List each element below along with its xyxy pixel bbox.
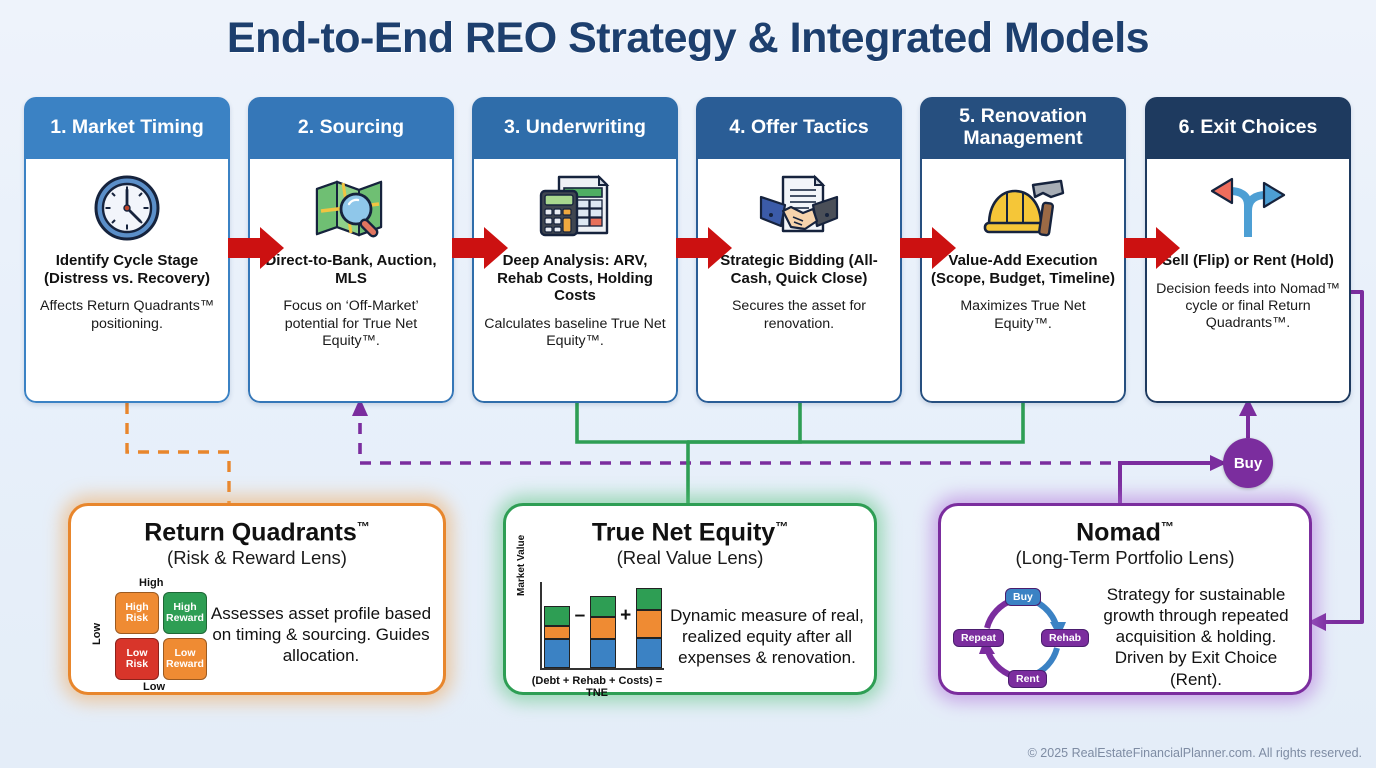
chart-operator-plus: + xyxy=(620,605,631,645)
stage-description-1: Affects Return Quadrants™ positioning. xyxy=(35,298,219,333)
model-panel-return-quadrants[interactable]: Return Quadrants™ (Risk & Reward Lens) H… xyxy=(68,503,446,695)
flow-arrow-1 xyxy=(228,225,284,271)
quadrant-cell-high-reward: High Reward xyxy=(163,592,207,634)
chart-bar-3 xyxy=(636,588,662,668)
nomad-step-repeat: Repeat xyxy=(953,629,1004,648)
model-panel-true-net-equity[interactable]: True Net Equity™ (Real Value Lens) Marke… xyxy=(503,503,877,695)
quadrant-axis-left: Low xyxy=(91,623,103,645)
stage-description-5: Maximizes True Net Equity™. xyxy=(931,298,1115,333)
true-net-equity-title: True Net Equity™ xyxy=(506,520,874,545)
stage-headline-2: Direct-to-Bank, Auction, MLS xyxy=(259,252,443,287)
hardhat-hammer-icon xyxy=(981,167,1065,249)
stage-header-6: 6. Exit Choices xyxy=(1145,97,1351,159)
stage-description-3: Calculates baseline True Net Equity™. xyxy=(483,316,667,351)
stage-description-2: Focus on ‘Off-Market’ potential for True… xyxy=(259,298,443,350)
stage-headline-3: Deep Analysis: ARV, Rehab Costs, Holding… xyxy=(483,252,667,305)
true-net-equity-subtitle: (Real Value Lens) xyxy=(506,549,874,568)
flow-arrow-2 xyxy=(452,225,508,271)
chart-x-axis-label: (Debt + Rehab + Costs) = TNE xyxy=(524,675,670,700)
flow-arrow-4 xyxy=(900,225,956,271)
stage-headline-6: Sell (Flip) or Rent (Hold) xyxy=(1162,252,1334,270)
chart-operator-minus: – xyxy=(575,605,586,645)
stage-headline-5: Value-Add Execution (Scope, Budget, Time… xyxy=(931,252,1115,287)
nomad-step-buy: Buy xyxy=(1005,588,1041,607)
return-quadrants-description: Assesses asset profile based on timing &… xyxy=(209,603,433,667)
chart-bar-2 xyxy=(590,596,616,668)
handshake-contract-icon xyxy=(757,167,841,249)
fork-arrows-icon xyxy=(1206,167,1290,249)
quadrant-cell-high-risk: High Risk xyxy=(115,592,159,634)
stage-header-4: 4. Offer Tactics xyxy=(696,97,902,159)
chart-plot-area: – + xyxy=(540,582,664,670)
nomad-step-rent: Rent xyxy=(1008,670,1047,689)
flow-arrow-5 xyxy=(1124,225,1180,271)
map-magnifier-icon xyxy=(311,167,391,249)
model-panel-nomad[interactable]: Nomad™ (Long-Term Portfolio Lens) Buy Re… xyxy=(938,503,1312,695)
stage-header-2: 2. Sourcing xyxy=(248,97,454,159)
buy-node[interactable]: Buy xyxy=(1223,438,1273,488)
return-quadrants-title: Return Quadrants™ xyxy=(71,520,443,545)
quadrant-axis-top: High xyxy=(139,577,163,589)
stage-description-4: Secures the asset for renovation. xyxy=(707,298,891,333)
stage-header-1: 1. Market Timing xyxy=(24,97,230,159)
stage-description-6: Decision feeds into Nomad™ cycle or fina… xyxy=(1156,281,1340,333)
clock-icon xyxy=(90,167,164,249)
flow-arrow-3 xyxy=(676,225,732,271)
nomad-step-rehab: Rehab xyxy=(1041,629,1089,648)
chart-y-axis-label: Market Value xyxy=(516,535,527,596)
stage-headline-1: Identify Cycle Stage (Distress vs. Recov… xyxy=(35,252,219,287)
nomad-description: Strategy for sustainable growth through … xyxy=(1093,584,1299,690)
nomad-title: Nomad™ xyxy=(941,520,1309,545)
chart-bar-1 xyxy=(544,606,570,668)
stage-headline-4: Strategic Bidding (All-Cash, Quick Close… xyxy=(707,252,891,287)
stage-header-3: 3. Underwriting xyxy=(472,97,678,159)
return-quadrants-matrix: High Low Low High Risk High Reward Low R… xyxy=(89,576,209,694)
stage-card-market-timing[interactable]: 1. Market Timing Identify Cy xyxy=(24,97,230,403)
quadrant-cell-low-risk: Low Risk xyxy=(115,638,159,680)
page-title: End-to-End REO Strategy & Integrated Mod… xyxy=(0,14,1376,63)
calculator-spreadsheet-icon xyxy=(535,167,615,249)
true-net-equity-chart: Market Value – + xyxy=(520,576,670,698)
stage-header-5: 5. Renovation Management xyxy=(920,97,1126,159)
nomad-subtitle: (Long-Term Portfolio Lens) xyxy=(941,549,1309,568)
true-net-equity-description: Dynamic measure of real, realized equity… xyxy=(670,605,864,669)
nomad-cycle-diagram: Buy Rehab Rent Repeat xyxy=(953,576,1093,698)
quadrant-cell-low-reward: Low Reward xyxy=(163,638,207,680)
quadrant-axis-bottom: Low xyxy=(143,681,165,693)
copyright-footer: © 2025 RealEstateFinancialPlanner.com. A… xyxy=(1028,746,1362,760)
return-quadrants-subtitle: (Risk & Reward Lens) xyxy=(71,549,443,568)
